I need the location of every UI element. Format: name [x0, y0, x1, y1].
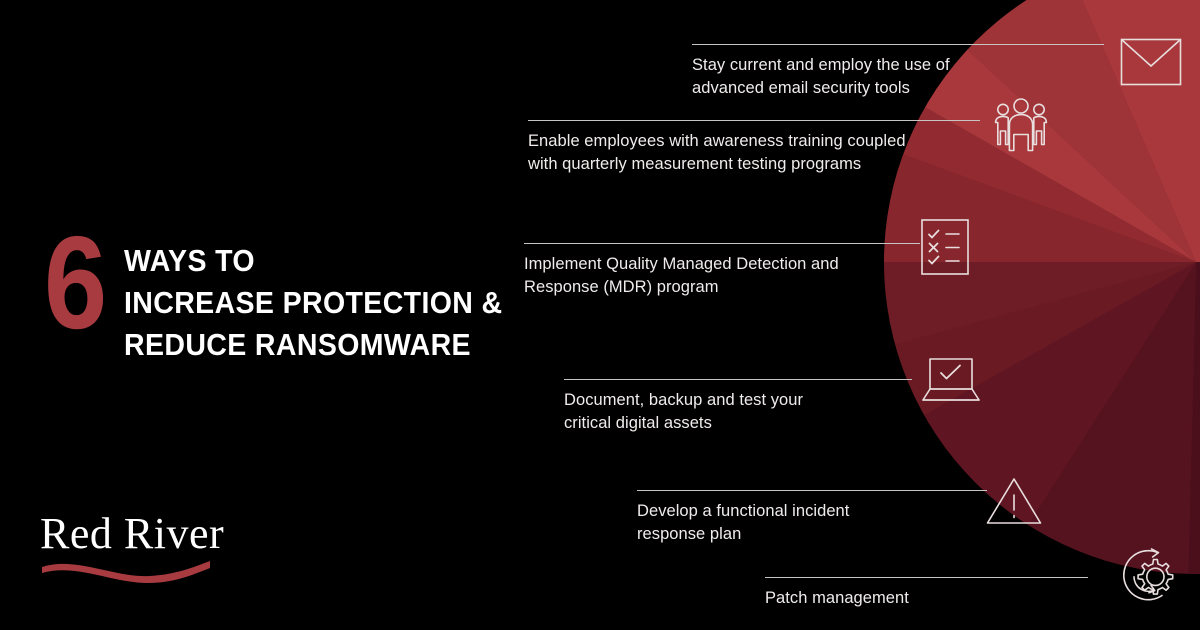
red-river-logo: Red River — [40, 512, 270, 589]
callout-text: Stay current and employ the use of advan… — [692, 54, 1122, 101]
title-lines: WAYS TO INCREASE PROTECTION & REDUCE RAN… — [124, 228, 535, 366]
callout-email-security: Stay current and employ the use of advan… — [692, 44, 1122, 101]
logo-wordmark: Red River — [40, 512, 270, 556]
callout-text: Develop a functional incident response p… — [637, 500, 1007, 547]
checklist-icon — [921, 219, 969, 275]
callout-text: Enable employees with awareness training… — [528, 130, 988, 177]
facet-11 — [1180, 262, 1200, 630]
callout-rule — [692, 44, 1104, 45]
page-title: 6 WAYS TO INCREASE PROTECTION & REDUCE R… — [44, 228, 536, 366]
people-group-icon — [993, 97, 1049, 157]
callout-rule — [637, 490, 987, 491]
title-line-2: INCREASE PROTECTION & — [124, 282, 503, 324]
callout-rule — [564, 379, 912, 380]
title-line-1: WAYS TO — [124, 240, 503, 282]
envelope-icon — [1120, 38, 1182, 86]
gear-refresh-icon — [1113, 545, 1179, 607]
title-line-3: REDUCE RANSOMWARE — [124, 324, 503, 366]
warning-triangle-icon — [986, 477, 1042, 525]
callout-backup-test: Document, backup and test your critical … — [564, 379, 934, 436]
callout-text: Implement Quality Managed Detection and … — [524, 253, 944, 300]
callout-awareness-training: Enable employees with awareness training… — [528, 120, 988, 177]
logo-swoosh-icon — [40, 558, 212, 584]
callout-text: Document, backup and test your critical … — [564, 389, 934, 436]
count-number: 6 — [44, 222, 105, 343]
callout-rule — [528, 120, 980, 121]
callout-patch-management: Patch management — [765, 577, 1105, 610]
callout-text: Patch management — [765, 587, 1105, 610]
callout-mdr-program: Implement Quality Managed Detection and … — [524, 243, 944, 300]
callout-incident-response: Develop a functional incident response p… — [637, 490, 1007, 547]
infographic-canvas: 6 WAYS TO INCREASE PROTECTION & REDUCE R… — [0, 0, 1200, 630]
callout-rule — [524, 243, 920, 244]
laptop-check-icon — [922, 358, 980, 404]
callout-rule — [765, 577, 1088, 578]
